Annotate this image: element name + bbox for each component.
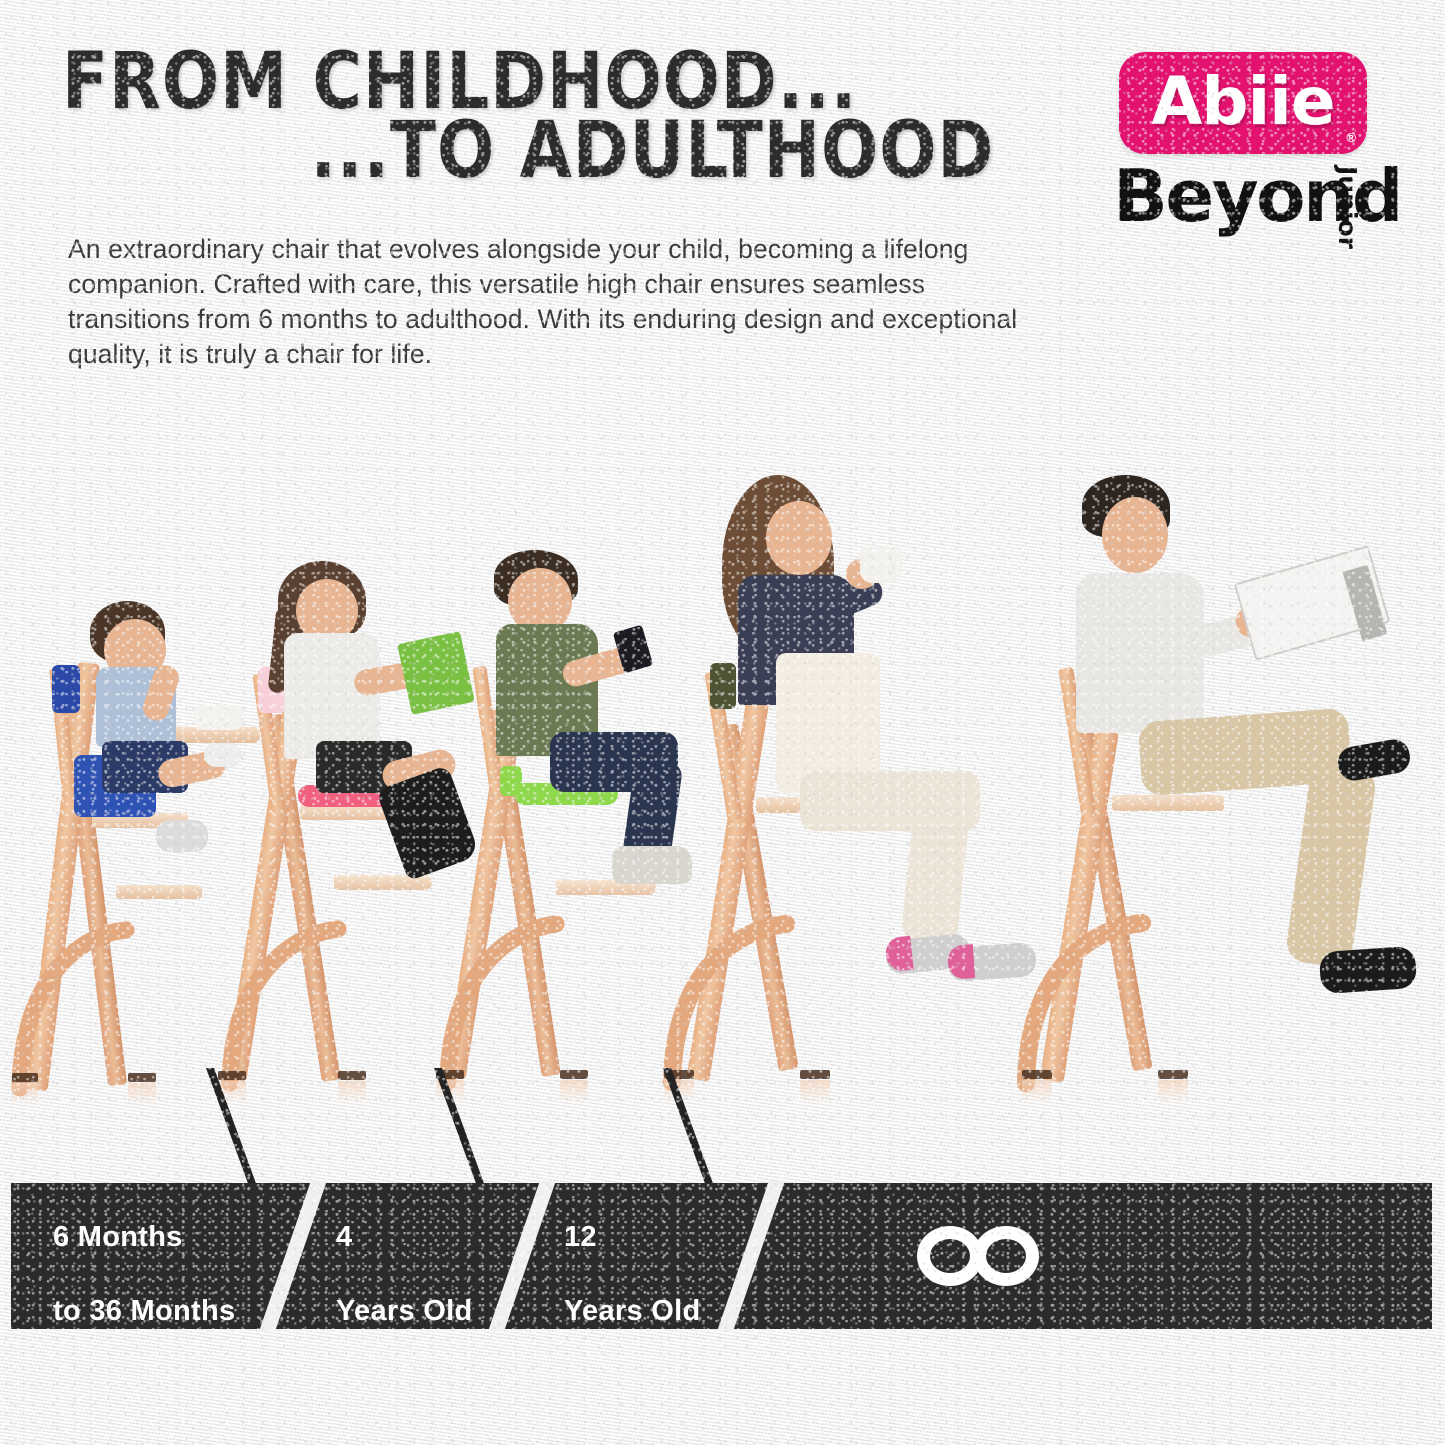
infographic-page: FROM CHILDHOOD... ...TO ADULTHOOD An ext… bbox=[0, 0, 1445, 1445]
headline-line-2: ...TO ADULTHOOD bbox=[100, 117, 1002, 186]
chair-foot-right bbox=[128, 1073, 156, 1082]
floor-reflection-2 bbox=[1158, 1080, 1188, 1102]
man-head bbox=[1102, 497, 1168, 573]
description-paragraph: An extraordinary chair that evolves alon… bbox=[68, 232, 1033, 372]
figure-toddler-high-chair bbox=[8, 605, 238, 1075]
abiie-wordmark: Abiie bbox=[1119, 63, 1367, 140]
beyond-junior-row: Beyond Junior bbox=[1119, 164, 1419, 242]
chair-cushion-back bbox=[52, 665, 80, 713]
chair-foot-right bbox=[560, 1070, 588, 1079]
description-text: An extraordinary chair that evolves alon… bbox=[68, 232, 1033, 372]
man-lower-leg bbox=[1284, 761, 1377, 968]
banner-stage-2: 12 Years Old bbox=[564, 1183, 764, 1329]
registered-trademark-icon: ® bbox=[1346, 130, 1356, 145]
banner-stage-2-top: 12 bbox=[564, 1221, 597, 1253]
chair-foot-right bbox=[338, 1071, 366, 1080]
floor-reflection-2 bbox=[128, 1083, 156, 1105]
infinity-ring-right bbox=[973, 1226, 1039, 1286]
chair-foot-left bbox=[1022, 1070, 1052, 1079]
chair-seat bbox=[1112, 795, 1224, 811]
woman-head bbox=[766, 501, 832, 575]
chair-foot-right bbox=[800, 1070, 830, 1079]
man-sock bbox=[1319, 946, 1418, 995]
toddler-sock bbox=[156, 820, 208, 852]
chair-footrest bbox=[116, 885, 202, 899]
age-stage-banner: 6 Months to 36 Months 4 Years Old 12 Yea… bbox=[11, 1183, 1432, 1329]
chair-foot-right bbox=[1158, 1070, 1188, 1079]
chair-progression-scene bbox=[0, 455, 1445, 1075]
floor-reflection-2 bbox=[338, 1081, 366, 1103]
chair-cushion-back bbox=[500, 766, 522, 796]
chair-foot-left bbox=[12, 1073, 38, 1082]
banner-stage-0: 6 Months to 36 Months bbox=[53, 1183, 283, 1329]
floor-reflection-2 bbox=[560, 1080, 588, 1102]
banner-stage-1: 4 Years Old bbox=[336, 1183, 536, 1329]
figure-woman-cup bbox=[690, 475, 1050, 1075]
coffee-cup bbox=[860, 547, 902, 583]
infinity-icon bbox=[917, 1226, 1045, 1286]
banner-stage-1-label: 4 Years Old bbox=[336, 1182, 473, 1330]
chair-foot-left bbox=[218, 1071, 246, 1080]
floor-reflection bbox=[1022, 1080, 1052, 1102]
figure-man-reading bbox=[1020, 475, 1440, 1075]
banner-stage-2-bottom: Years Old bbox=[564, 1295, 701, 1327]
banner-stage-0-top: 6 Months bbox=[53, 1221, 183, 1253]
chair-base-arc bbox=[1020, 847, 1235, 1087]
banner-stage-0-bottom: to 36 Months bbox=[53, 1295, 235, 1327]
banner-stage-1-top: 4 bbox=[336, 1221, 352, 1253]
banner-stage-0-label: 6 Months to 36 Months bbox=[53, 1182, 235, 1330]
chair-base-arc bbox=[666, 850, 876, 1085]
page-title: FROM CHILDHOOD... ...TO ADULTHOOD bbox=[62, 48, 1002, 185]
chair-cushion-back bbox=[710, 663, 736, 709]
banner-stage-2-label: 12 Years Old bbox=[564, 1182, 701, 1330]
banner-stage-1-bottom: Years Old bbox=[336, 1295, 473, 1327]
junior-wordmark: Junior bbox=[1333, 166, 1362, 249]
floor-reflection bbox=[12, 1083, 38, 1105]
floor-reflection-2 bbox=[800, 1080, 830, 1102]
brand-logo: Abiie ® Beyond Junior bbox=[1119, 52, 1419, 242]
abiie-badge: Abiie ® bbox=[1119, 52, 1367, 154]
